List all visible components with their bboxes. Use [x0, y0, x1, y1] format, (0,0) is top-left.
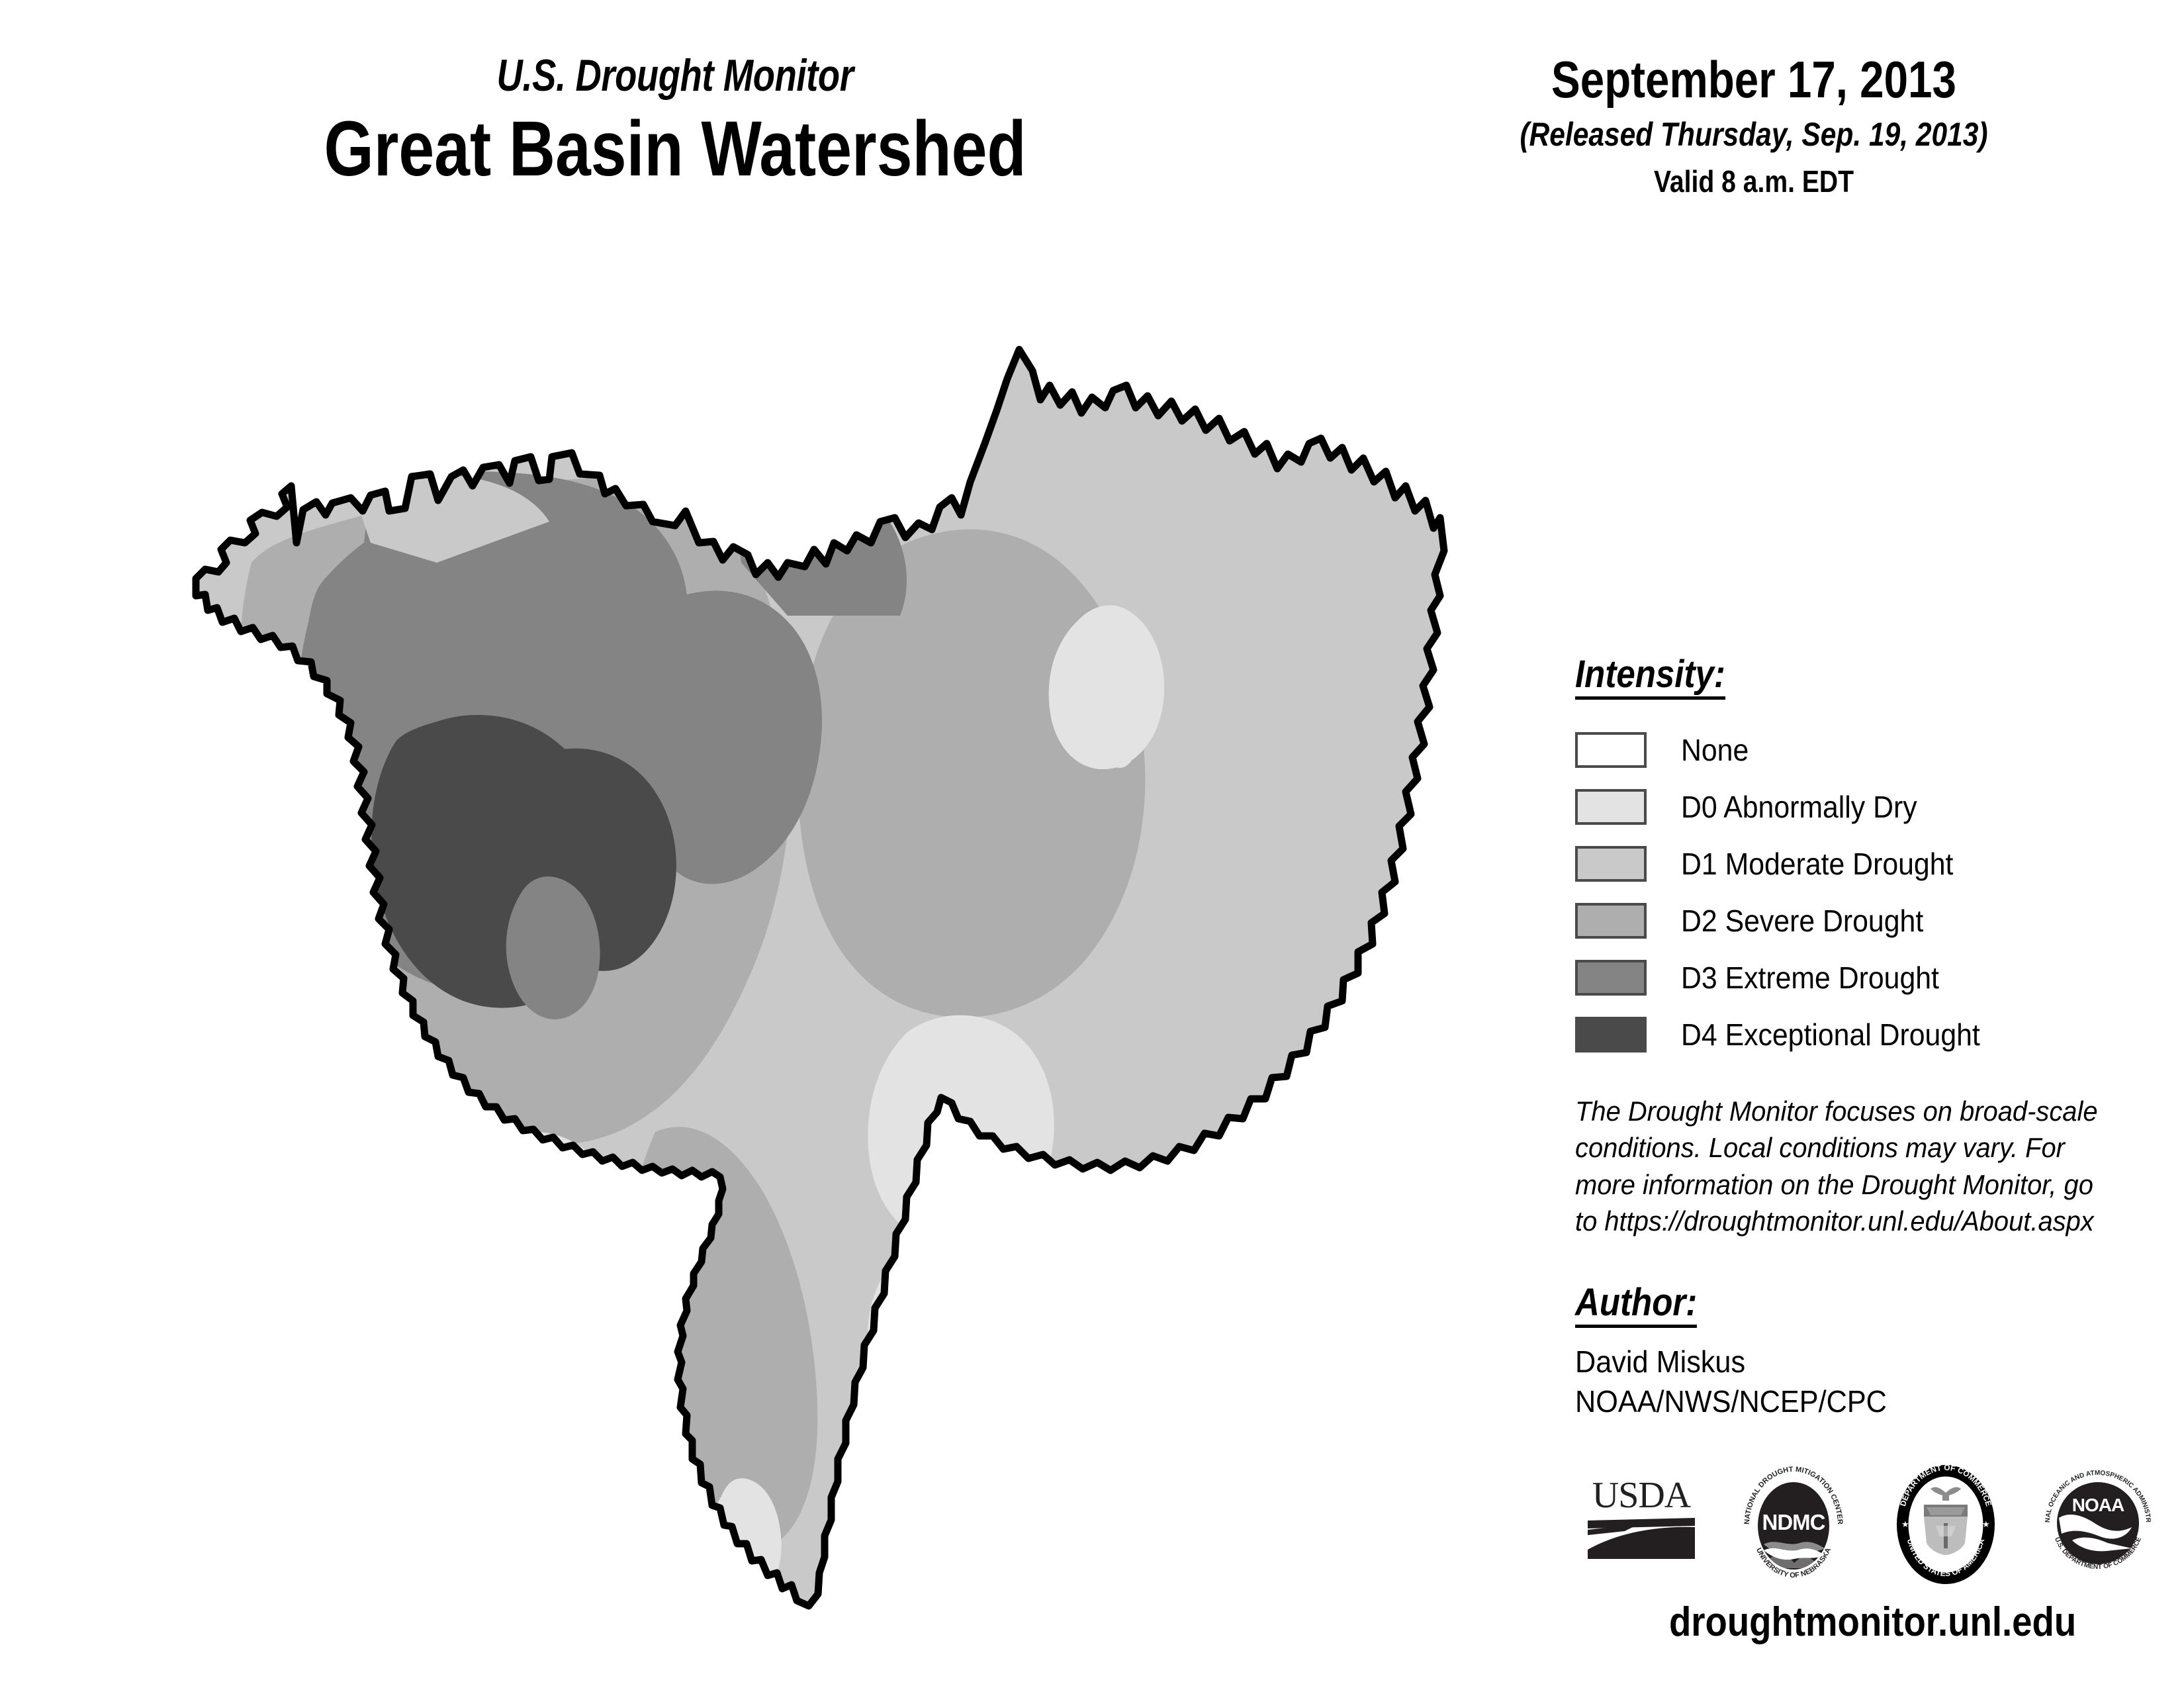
legend-label-d0: D0 Abnormally Dry: [1681, 792, 1917, 822]
legend-list: None D0 Abnormally Dry D1 Moderate Droug…: [1575, 726, 2158, 1058]
valid-date: September 17, 2013: [1471, 53, 2038, 107]
svg-text:NOAA: NOAA: [2072, 1495, 2124, 1515]
noaa-logo: NATIONAL OCEANIC AND ATMOSPHERIC ADMINIS…: [2035, 1460, 2161, 1585]
author-heading: Author:: [1575, 1284, 1697, 1328]
released-date: (Released Thursday, Sep. 19, 2013): [1467, 117, 2041, 153]
side-panel: Intensity: None D0 Abnormally Dry D1 Mod…: [1575, 655, 2158, 1421]
map-svg: [152, 344, 1469, 1622]
svg-text:USDA: USDA: [1592, 1475, 1692, 1516]
page-title: Great Basin Watershed: [187, 109, 1163, 191]
department-of-commerce-logo: DEPARTMENT OF COMMERCE UNITED STATES OF …: [1883, 1460, 2009, 1585]
legend-label-d1: D1 Moderate Drought: [1681, 849, 1953, 879]
valid-time: Valid 8 a.m. EDT: [1467, 165, 2041, 199]
header: U.S. Drought Monitor Great Basin Watersh…: [0, 0, 2184, 278]
disclaimer-text: The Drought Monitor focuses on broad-sca…: [1575, 1093, 2103, 1240]
usda-logo: USDA: [1578, 1460, 1704, 1585]
legend-swatch-d4: [1575, 1017, 1647, 1053]
svg-text:★: ★: [1982, 1519, 1990, 1529]
d0-pocket-east-central: [868, 1015, 1054, 1246]
legend-label-d2: D2 Severe Drought: [1681, 906, 1923, 936]
legend-row-d3[interactable]: D3 Extreme Drought: [1575, 954, 2158, 1002]
legend-label-d4: D4 Exceptional Drought: [1681, 1019, 1980, 1050]
legend-row-d1[interactable]: D1 Moderate Drought: [1575, 840, 2158, 888]
d0-pocket-central-south: [456, 1131, 625, 1350]
footer-url-text: droughtmonitor.unl.edu: [1669, 1602, 2076, 1643]
legend-row-d4[interactable]: D4 Exceptional Drought: [1575, 1011, 2158, 1058]
intensity-heading: Intensity:: [1575, 655, 1725, 700]
svg-text:★: ★: [1901, 1519, 1909, 1529]
legend-row-none[interactable]: None: [1575, 726, 2158, 774]
author-info: David Miskus NOAA/NWS/NCEP/CPC: [1575, 1342, 2122, 1422]
date-block: September 17, 2013 (Released Thursday, S…: [1416, 53, 2091, 198]
title-block: U.S. Drought Monitor Great Basin Watersh…: [79, 53, 1271, 191]
author-affiliation: NOAA/NWS/NCEP/CPC: [1575, 1382, 2122, 1422]
legend-swatch-d1: [1575, 846, 1647, 882]
legend-swatch-d0: [1575, 789, 1647, 825]
ndmc-logo: NATIONAL DROUGHT MITIGATION CENTER UNIVE…: [1731, 1460, 1856, 1585]
footer-url[interactable]: droughtmonitor.unl.edu: [1575, 1602, 2171, 1643]
author-name: David Miskus: [1575, 1342, 2122, 1382]
legend-label-none: None: [1681, 735, 1749, 765]
legend-row-d2[interactable]: D2 Severe Drought: [1575, 897, 2158, 945]
legend-swatch-d3: [1575, 960, 1647, 996]
svg-text:NDMC: NDMC: [1762, 1510, 1825, 1534]
legend-row-d0[interactable]: D0 Abnormally Dry: [1575, 783, 2158, 831]
drought-map: [152, 344, 1469, 1622]
logo-row: USDA NATIONAL DROUGHT MITIGATION CENTER …: [1578, 1460, 2161, 1585]
subtitle-text: U.S. Drought Monitor: [199, 53, 1152, 98]
legend-swatch-none: [1575, 732, 1647, 768]
legend-swatch-d2: [1575, 903, 1647, 939]
legend-label-d3: D3 Extreme Drought: [1681, 962, 1939, 993]
